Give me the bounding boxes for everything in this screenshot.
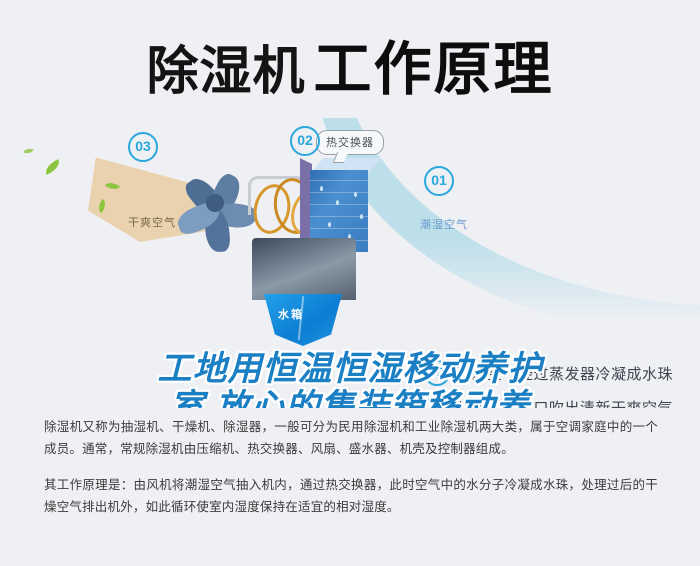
water-tank-label: 水箱 (278, 306, 304, 322)
step-marker-03: 03 (128, 132, 158, 162)
water-droplet-icon (354, 192, 357, 197)
page-title-part2: 工作原理 (314, 37, 554, 102)
machine-housing (252, 238, 356, 300)
water-droplet-icon (336, 200, 339, 205)
wet-air-label: 潮湿空气 (420, 216, 468, 232)
water-droplet-icon (360, 214, 363, 219)
fan-hub (206, 194, 224, 212)
leaf-icon (23, 147, 33, 155)
page-root: 除湿机工作原理 干爽空气 (0, 0, 700, 566)
water-droplet-icon (328, 222, 331, 227)
promo-overlay-line-2: 室 放心的集装箱移动养 (110, 388, 590, 408)
dehumidifier-diagram: 干爽空气 (0, 118, 700, 408)
heat-exchanger-callout: 热交换器 (316, 130, 384, 155)
heat-exchanger-fin (310, 204, 368, 205)
description-block: 除湿机又称为抽湿机、干燥机、除湿器，一般可分为民用除湿机和工业除湿机两大类，属于… (44, 416, 658, 518)
heat-exchanger-fin (310, 228, 368, 229)
leaf-icon (43, 159, 63, 175)
water-droplet-icon (320, 186, 323, 191)
dehumidifier-body: 水箱 (240, 238, 390, 348)
description-paragraph-1: 除湿机又称为抽湿机、干燥机、除湿器，一般可分为民用除湿机和工业除湿机两大类，属于… (44, 416, 658, 460)
heat-exchanger-fin (310, 180, 368, 181)
step-marker-02: 02 (290, 126, 320, 156)
page-title: 除湿机工作原理 (0, 22, 700, 106)
heat-exchanger-fin (310, 192, 368, 193)
step-marker-01: 01 (424, 166, 454, 196)
promo-overlay-text: 工地用恒温恒湿移动养护 室 放心的集装箱移动养 护室厂家 (110, 350, 590, 408)
description-paragraph-2: 其工作原理是：由风机将潮湿空气抽入机内，通过热交换器，此时空气中的水分子冷凝成水… (44, 474, 658, 518)
dry-air-label: 干爽空气 (128, 214, 176, 230)
promo-overlay-line-1: 工地用恒温恒湿移动养护 (110, 350, 590, 388)
page-title-part1: 除湿机 (146, 43, 305, 101)
